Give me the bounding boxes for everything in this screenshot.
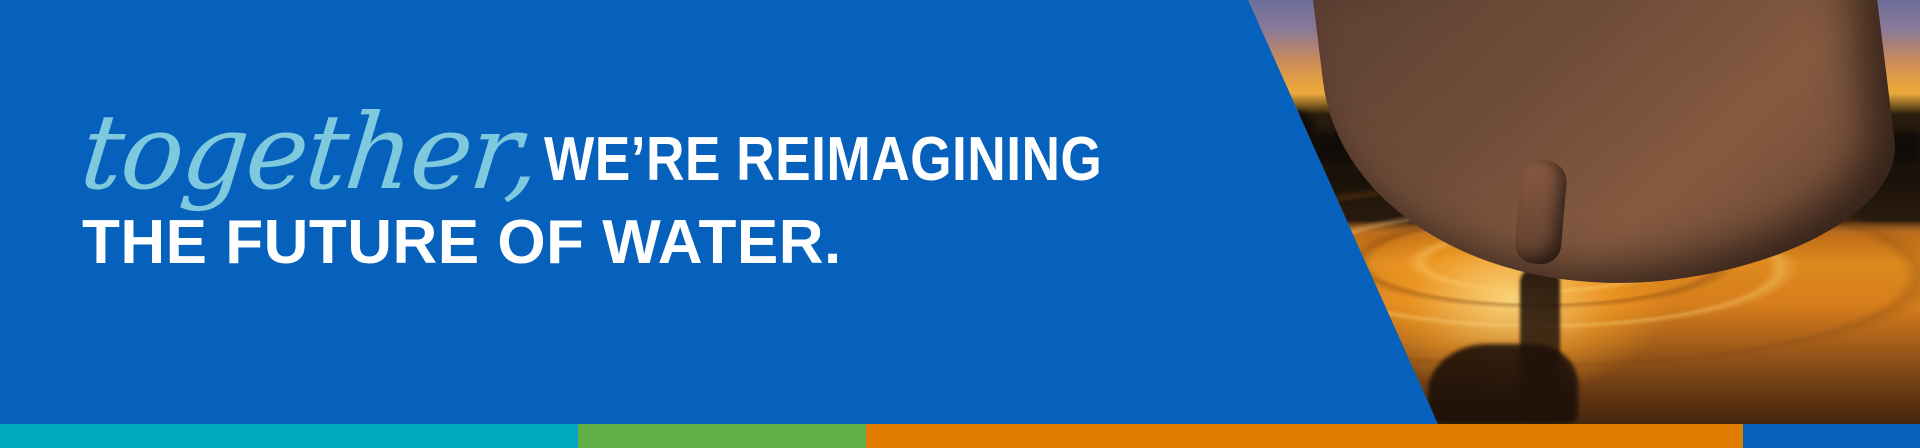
brand-color-bar xyxy=(0,424,1920,448)
sunset-water-photo xyxy=(1180,0,1920,424)
headline-future-of-water: THE FUTURE OF WATER. xyxy=(82,208,842,277)
finger-reflection xyxy=(1520,268,1560,418)
headline-were-reimagining: WE’RE REIMAGINING xyxy=(544,129,1102,191)
colorbar-segment-green xyxy=(578,424,866,448)
headline-line-2: THE FUTURE OF WATER. xyxy=(82,212,1102,274)
hero-photo xyxy=(1180,0,1920,424)
headline-block: together, WE’RE REIMAGINING THE FUTURE O… xyxy=(82,92,1102,274)
marketing-banner: together, WE’RE REIMAGINING THE FUTURE O… xyxy=(0,0,1920,448)
script-word-together: together, xyxy=(77,100,544,204)
headline-line-1: together, WE’RE REIMAGINING xyxy=(82,92,1102,196)
colorbar-segment-teal xyxy=(0,424,578,448)
arm-silhouette xyxy=(1312,0,1908,319)
colorbar-segment-orange xyxy=(866,424,1743,448)
index-finger xyxy=(1514,158,1569,266)
colorbar-segment-blue xyxy=(1743,424,1920,448)
